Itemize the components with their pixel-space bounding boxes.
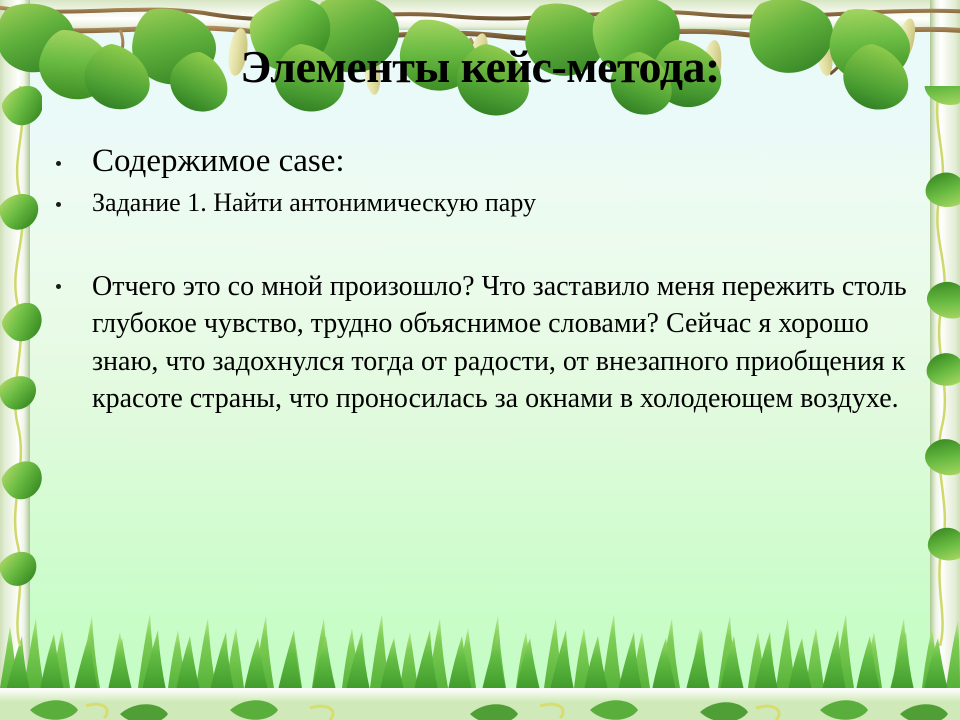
frame-bottom-strip [0, 694, 960, 720]
list-item-label: Отчего это со мной произошло? Что застав… [92, 271, 907, 414]
frame-top-strip [0, 0, 960, 30]
frame-right-strip [930, 0, 960, 720]
frame-left-strip [0, 0, 30, 720]
slide-canvas: Элементы кейс-метода: Содержимое case: З… [0, 0, 960, 720]
list-item-label: Содержимое case: [92, 143, 345, 179]
page-title: Элементы кейс-метода: [40, 44, 920, 90]
bullet-dot-icon [56, 202, 61, 207]
bullet-list: Содержимое case: Задание 1. Найти антони… [46, 142, 914, 417]
list-item: Содержимое case: [46, 142, 914, 181]
bullet-dot-icon [56, 284, 61, 289]
list-item: Отчего это со мной произошло? Что застав… [46, 268, 914, 417]
list-item: Задание 1. Найти антонимическую пару [46, 187, 914, 218]
list-item-label: Задание 1. Найти антонимическую пару [92, 188, 536, 217]
bullet-dot-icon [56, 161, 61, 166]
